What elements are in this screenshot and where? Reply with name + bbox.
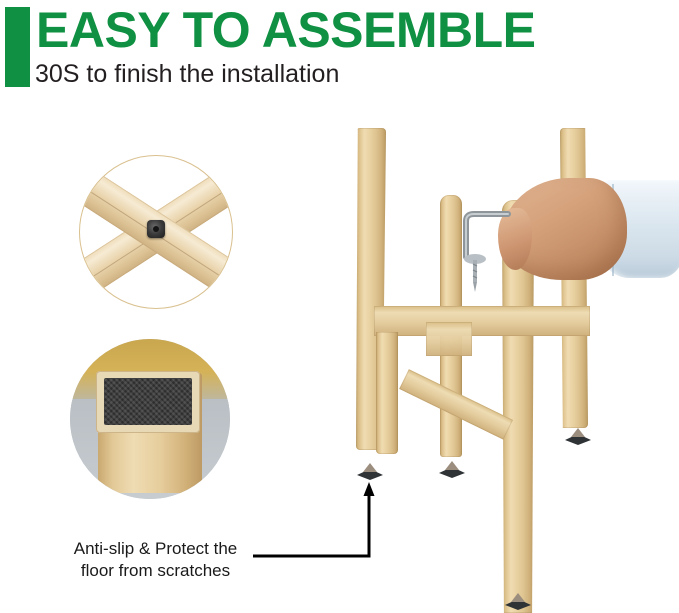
bolt-icon <box>147 220 165 238</box>
anti-slip-pad-4 <box>503 592 533 610</box>
screw-icon <box>462 252 488 294</box>
assembly-photo <box>330 110 679 613</box>
page-title: EASY TO ASSEMBLE <box>36 3 536 57</box>
infographic-page: EASY TO ASSEMBLE 30S to finish the insta… <box>0 0 679 613</box>
frame-rail-upper <box>374 306 590 336</box>
frame-rail-notch <box>426 322 472 356</box>
anti-slip-pad-2 <box>437 460 467 478</box>
anti-slip-pad-3 <box>563 427 593 445</box>
callout-line-1: Anti-slip & Protect the <box>58 538 253 560</box>
callout-caption: Anti-slip & Protect the floor from scrat… <box>58 538 253 582</box>
anti-slip-pad-1 <box>355 462 385 480</box>
callout-line-2: floor from scratches <box>58 560 253 582</box>
page-subtitle: 30S to finish the installation <box>35 59 339 89</box>
foot-pad-closeup-inset <box>70 339 230 499</box>
accent-bar <box>5 7 30 87</box>
joint-closeup-inset <box>79 155 233 309</box>
anti-slip-pad <box>104 378 192 425</box>
frame-post-inner-lower <box>376 332 398 454</box>
